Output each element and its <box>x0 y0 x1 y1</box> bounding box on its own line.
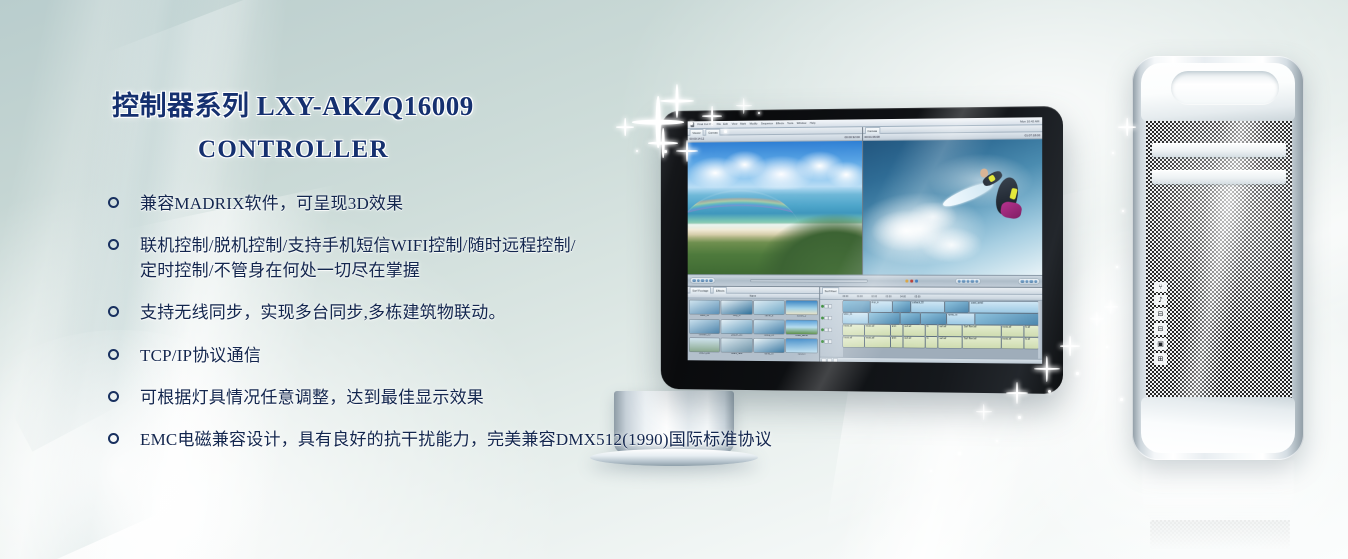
transport-buttons-right[interactable] <box>956 278 981 284</box>
timeline-clip[interactable]: drop_in <box>871 301 892 312</box>
list-item: 联机控制/脱机控制/支持手机短信WIFI控制/随时远程控制/ 定时控制/不管身在… <box>108 233 860 283</box>
fit-icon[interactable] <box>1029 280 1032 283</box>
timeline-scrollbar[interactable] <box>1038 301 1042 359</box>
ruler-mark: 02:00 <box>871 295 877 298</box>
ruler-mark: 05:00 <box>915 295 921 298</box>
optical-drive-slot[interactable] <box>1152 170 1286 184</box>
timeline-clip[interactable]: spray_cu <box>947 313 974 324</box>
timeline-clip[interactable]: surf.aif <box>939 337 963 348</box>
timeline-clip[interactable]: surf.aif <box>903 337 924 348</box>
timeline-clip[interactable]: music.aif <box>1001 338 1023 349</box>
audio-track-a1[interactable]: music.aif music.aif amb surf.aif fx surf… <box>843 325 1039 337</box>
bullet-ring-icon <box>108 433 119 444</box>
video-track-v1[interactable]: wave_01 spray_cu <box>843 313 1039 325</box>
status-dots <box>905 280 918 283</box>
usb-icon: ⊟ <box>1154 308 1167 320</box>
water-spray <box>870 202 1002 267</box>
tower-reflection-mesh <box>1150 520 1290 550</box>
play-icon[interactable] <box>957 279 960 282</box>
bullet-ring-icon <box>108 197 119 208</box>
surfer-hand <box>981 169 988 178</box>
audio-track-a2[interactable]: music.aif music.aif amb surf.aif fx surf… <box>843 336 1039 348</box>
display-icon: ▣ <box>1154 338 1167 350</box>
sparkle-icon <box>1104 300 1118 314</box>
sparkle-icon <box>976 404 992 420</box>
zoom-buttons[interactable] <box>1019 279 1040 285</box>
sparkle-dot <box>1112 152 1114 154</box>
marker-icon[interactable] <box>971 280 974 283</box>
feature-text: 联机控制/脱机控制/支持手机短信WIFI控制/随时远程控制/ 定时控制/不管身在… <box>140 233 860 283</box>
tower-port-panel: ⑂ ♪ ⊟ ⊟ ▣ ⊞ <box>1152 282 1169 365</box>
sparkle-dot <box>1076 372 1079 375</box>
out-point-icon[interactable] <box>966 279 969 282</box>
sparkle-dot <box>1116 266 1118 268</box>
timeline-clip[interactable]: fx.aif <box>1024 326 1038 337</box>
status-dot-amber <box>905 280 908 283</box>
sparkle-dot <box>996 440 998 442</box>
timeline-clip[interactable] <box>869 313 900 324</box>
canvas-image-surfer-wave <box>863 139 1043 275</box>
list-item: EMC电磁兼容设计，具有良好的抗干扰能力，完美兼容DMX512(1990)国际标… <box>108 427 860 452</box>
feature-list: 兼容MADRIX软件，可呈现3D效果 联机控制/脱机控制/支持手机短信WIFI控… <box>0 191 860 452</box>
bullet-ring-icon <box>108 349 119 360</box>
feature-text: 支持无线同步，实现多台同步,多栋建筑物联动。 <box>140 300 860 325</box>
firewire-icon: ⑂ <box>1154 282 1167 292</box>
timeline-clip[interactable]: amb <box>891 337 903 348</box>
list-item: TCP/IP协议通信 <box>108 343 860 368</box>
canvas-timecode-left: 00:01:06:08 <box>865 135 880 139</box>
sparkle-dot <box>1120 398 1123 401</box>
timeline-clip[interactable]: surf.aif <box>939 325 963 336</box>
audio-icon: ♪ <box>1154 295 1167 305</box>
tower-bottom-panel <box>1141 397 1295 453</box>
list-item: 支持无线同步，实现多台同步,多栋建筑物联动。 <box>108 300 860 325</box>
tab-canvas-active[interactable]: Canvas <box>865 127 881 134</box>
list-item: 兼容MADRIX软件，可呈现3D效果 <box>108 191 860 216</box>
tower-handle <box>1171 71 1279 105</box>
canvas-panel: Canvas 00:01:06:08 01:07:18:00 <box>862 125 1043 275</box>
list-item: 可根据灯具情况任意调整，达到最佳显示效果 <box>108 385 860 410</box>
sparkle-dot <box>958 452 961 455</box>
ruler-mark: 03:00 <box>886 295 892 298</box>
zoom-in-icon[interactable] <box>1025 280 1028 283</box>
timeline-clip[interactable]: music.aif <box>1001 326 1023 337</box>
tower-top-panel <box>1141 63 1295 121</box>
timeline-clip[interactable]: fx <box>926 337 938 348</box>
feature-text: 可根据灯具情况任意调整，达到最佳显示效果 <box>140 385 860 410</box>
ethernet-icon: ⊞ <box>1154 353 1167 365</box>
timeline-clip[interactable]: surf.aif <box>903 325 924 336</box>
surfer <box>991 164 1027 226</box>
usb-icon: ⊟ <box>1154 323 1167 335</box>
tower-reflection <box>1142 460 1294 526</box>
timeline-clip[interactable]: music.aif <box>865 336 890 347</box>
keyframe-icon[interactable] <box>975 280 978 283</box>
page-subtitle: CONTROLLER <box>198 136 860 164</box>
canvas-timecode-right: 01:07:18:00 <box>1025 133 1041 137</box>
timeline-clip[interactable]: music.aif <box>865 325 890 336</box>
timeline-clip[interactable] <box>945 301 969 312</box>
bullet-ring-icon <box>108 391 119 402</box>
sparkle-icon <box>1060 336 1080 356</box>
sparkle-dot <box>1106 346 1108 348</box>
menu-bar-clock: Mon 10:42 AM <box>1020 119 1039 123</box>
timeline-clip[interactable]: amb <box>891 325 903 336</box>
timeline-clip[interactable] <box>893 301 910 312</box>
status-dot-blue <box>915 280 918 283</box>
feature-text: TCP/IP协议通信 <box>140 343 860 368</box>
title-block: 控制器系列 LXY-AKZQ16009 CONTROLLER <box>0 0 860 164</box>
timeline-clip[interactable]: fx.aif <box>1024 338 1038 349</box>
copy-block: 控制器系列 LXY-AKZQ16009 CONTROLLER 兼容MADRIX软… <box>0 0 860 559</box>
timeline-clip[interactable] <box>921 313 946 324</box>
timeline-clip[interactable]: coast_aerial <box>970 302 1038 313</box>
bullet-ring-icon <box>108 239 119 250</box>
wireframe-icon[interactable] <box>1034 280 1037 284</box>
timeline-clip[interactable] <box>976 314 1038 325</box>
bullet-ring-icon <box>108 306 119 317</box>
optical-drive-slot[interactable] <box>1152 143 1286 157</box>
status-dot-red <box>910 280 913 283</box>
ruler-mark: 04:00 <box>900 295 906 298</box>
sparkle-dot <box>930 470 932 472</box>
feature-text: 兼容MADRIX软件，可呈现3D效果 <box>140 191 860 216</box>
zoom-out-icon[interactable] <box>1020 280 1023 283</box>
in-point-icon[interactable] <box>962 279 965 282</box>
timeline-clip[interactable]: cutback_03 <box>911 301 944 312</box>
product-banner: 控制器系列 LXY-AKZQ16009 CONTROLLER 兼容MADRIX软… <box>0 0 1348 559</box>
timeline-clip[interactable]: fx <box>926 325 938 336</box>
timeline-clip[interactable]: Surf Reel.aif <box>963 325 1000 336</box>
track-lanes: drop_in cutback_03 coast_aerial wave_01 <box>843 300 1039 359</box>
surfer-shorts <box>1000 201 1023 220</box>
timeline-clip[interactable] <box>901 313 920 324</box>
sparkle-icon <box>1090 312 1104 326</box>
timeline-clip[interactable]: Surf Reel.aif <box>963 337 1000 348</box>
sparkle-dot <box>1018 416 1021 419</box>
mac-pro-tower: ⑂ ♪ ⊟ ⊟ ▣ ⊞ <box>1132 56 1304 460</box>
page-title: 控制器系列 LXY-AKZQ16009 <box>112 84 860 123</box>
feature-text: EMC电磁兼容设计，具有良好的抗干扰能力，完美兼容DMX512(1990)国际标… <box>140 427 860 452</box>
video-track-v2[interactable]: drop_in cutback_03 coast_aerial <box>843 301 1039 313</box>
sparkle-dot <box>1122 210 1124 212</box>
